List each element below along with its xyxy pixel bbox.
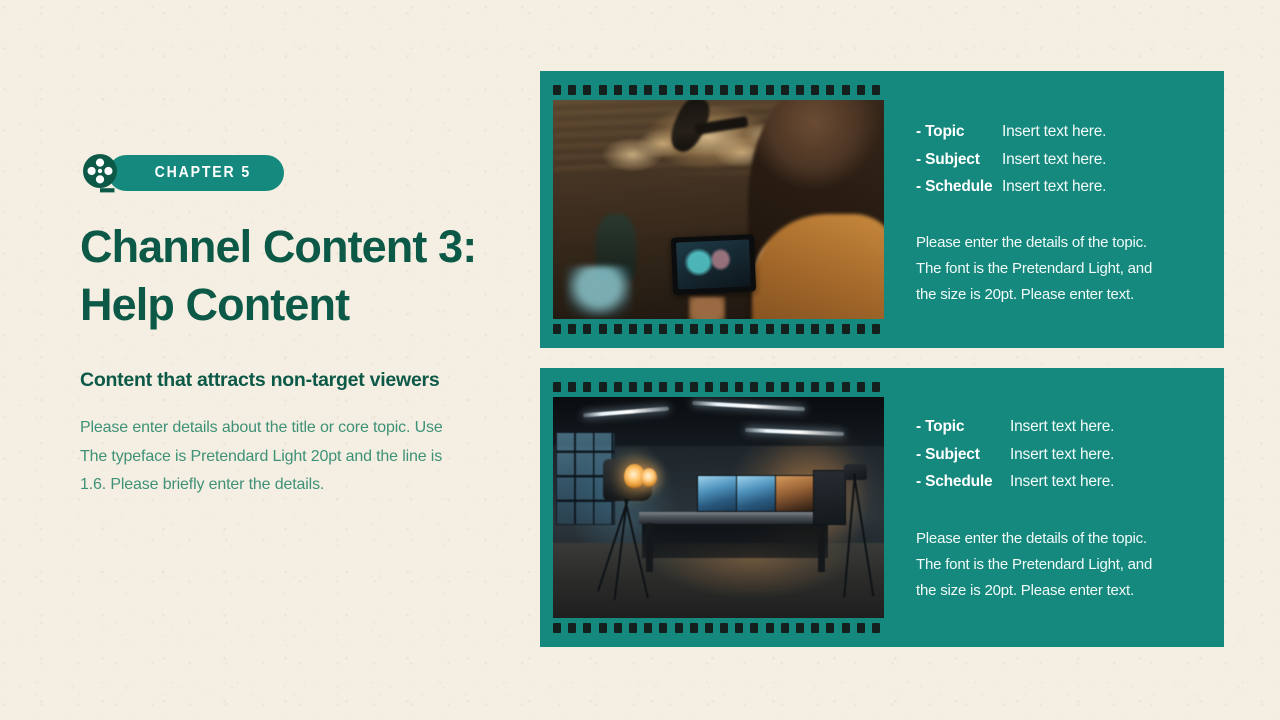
perforation-row-bottom-2 [553,623,884,633]
card-2-paragraph: Please enter the details of the topic. T… [916,526,1224,605]
card-2-field-list: - Topic Insert text here. - Subject Inse… [916,419,1224,490]
card-1-field-subject: - Subject Insert text here. [916,152,1224,168]
page-title: Channel Content 3: Help Content [80,218,520,333]
page-body-text: Please enter details about the title or … [80,414,520,499]
card-2-field-schedule: - Schedule Insert text here. [916,474,1224,490]
film-reel-icon [80,151,124,195]
perforation-row-top-2 [553,382,884,392]
field-key: - Topic [916,124,1002,140]
card-1-photo [553,100,884,319]
chapter-badge[interactable]: CHAPTER 5 [80,150,520,196]
field-value: Insert text here. [1002,152,1106,168]
card-1-text: - Topic Insert text here. - Subject Inse… [884,71,1224,348]
card-1-field-topic: - Topic Insert text here. [916,124,1224,140]
field-key: - Schedule [916,179,1002,195]
card-2-photo [553,397,884,618]
field-key: - Subject [916,447,1010,463]
card-1-field-schedule: - Schedule Insert text here. [916,179,1224,195]
field-value: Insert text here. [1010,474,1114,490]
card-1-field-list: - Topic Insert text here. - Subject Inse… [916,124,1224,195]
page-subtitle: Content that attracts non-target viewers [80,369,520,392]
filmstrip-1 [540,71,884,348]
content-card-2: - Topic Insert text here. - Subject Inse… [540,368,1224,647]
slide-canvas: CHAPTER 5 Channel Content 3: Help Conten… [0,0,1280,720]
field-key: - Schedule [916,474,1010,490]
filmstrip-2 [540,368,884,647]
card-1-paragraph: Please enter the details of the topic. T… [916,230,1224,309]
field-value: Insert text here. [1002,179,1106,195]
field-key: - Subject [916,152,1002,168]
chapter-pill: CHAPTER 5 [108,155,284,191]
card-2-field-topic: - Topic Insert text here. [916,419,1224,435]
field-value: Insert text here. [1010,447,1114,463]
chapter-label: CHAPTER 5 [155,164,251,182]
field-value: Insert text here. [1010,419,1114,435]
content-card-1: - Topic Insert text here. - Subject Inse… [540,71,1224,348]
left-content-column: CHAPTER 5 Channel Content 3: Help Conten… [80,150,520,500]
card-2-text: - Topic Insert text here. - Subject Inse… [884,368,1224,647]
field-key: - Topic [916,419,1010,435]
card-2-field-subject: - Subject Insert text here. [916,447,1224,463]
perforation-row-top-1 [553,85,884,95]
perforation-row-bottom-1 [553,324,884,334]
field-value: Insert text here. [1002,124,1106,140]
